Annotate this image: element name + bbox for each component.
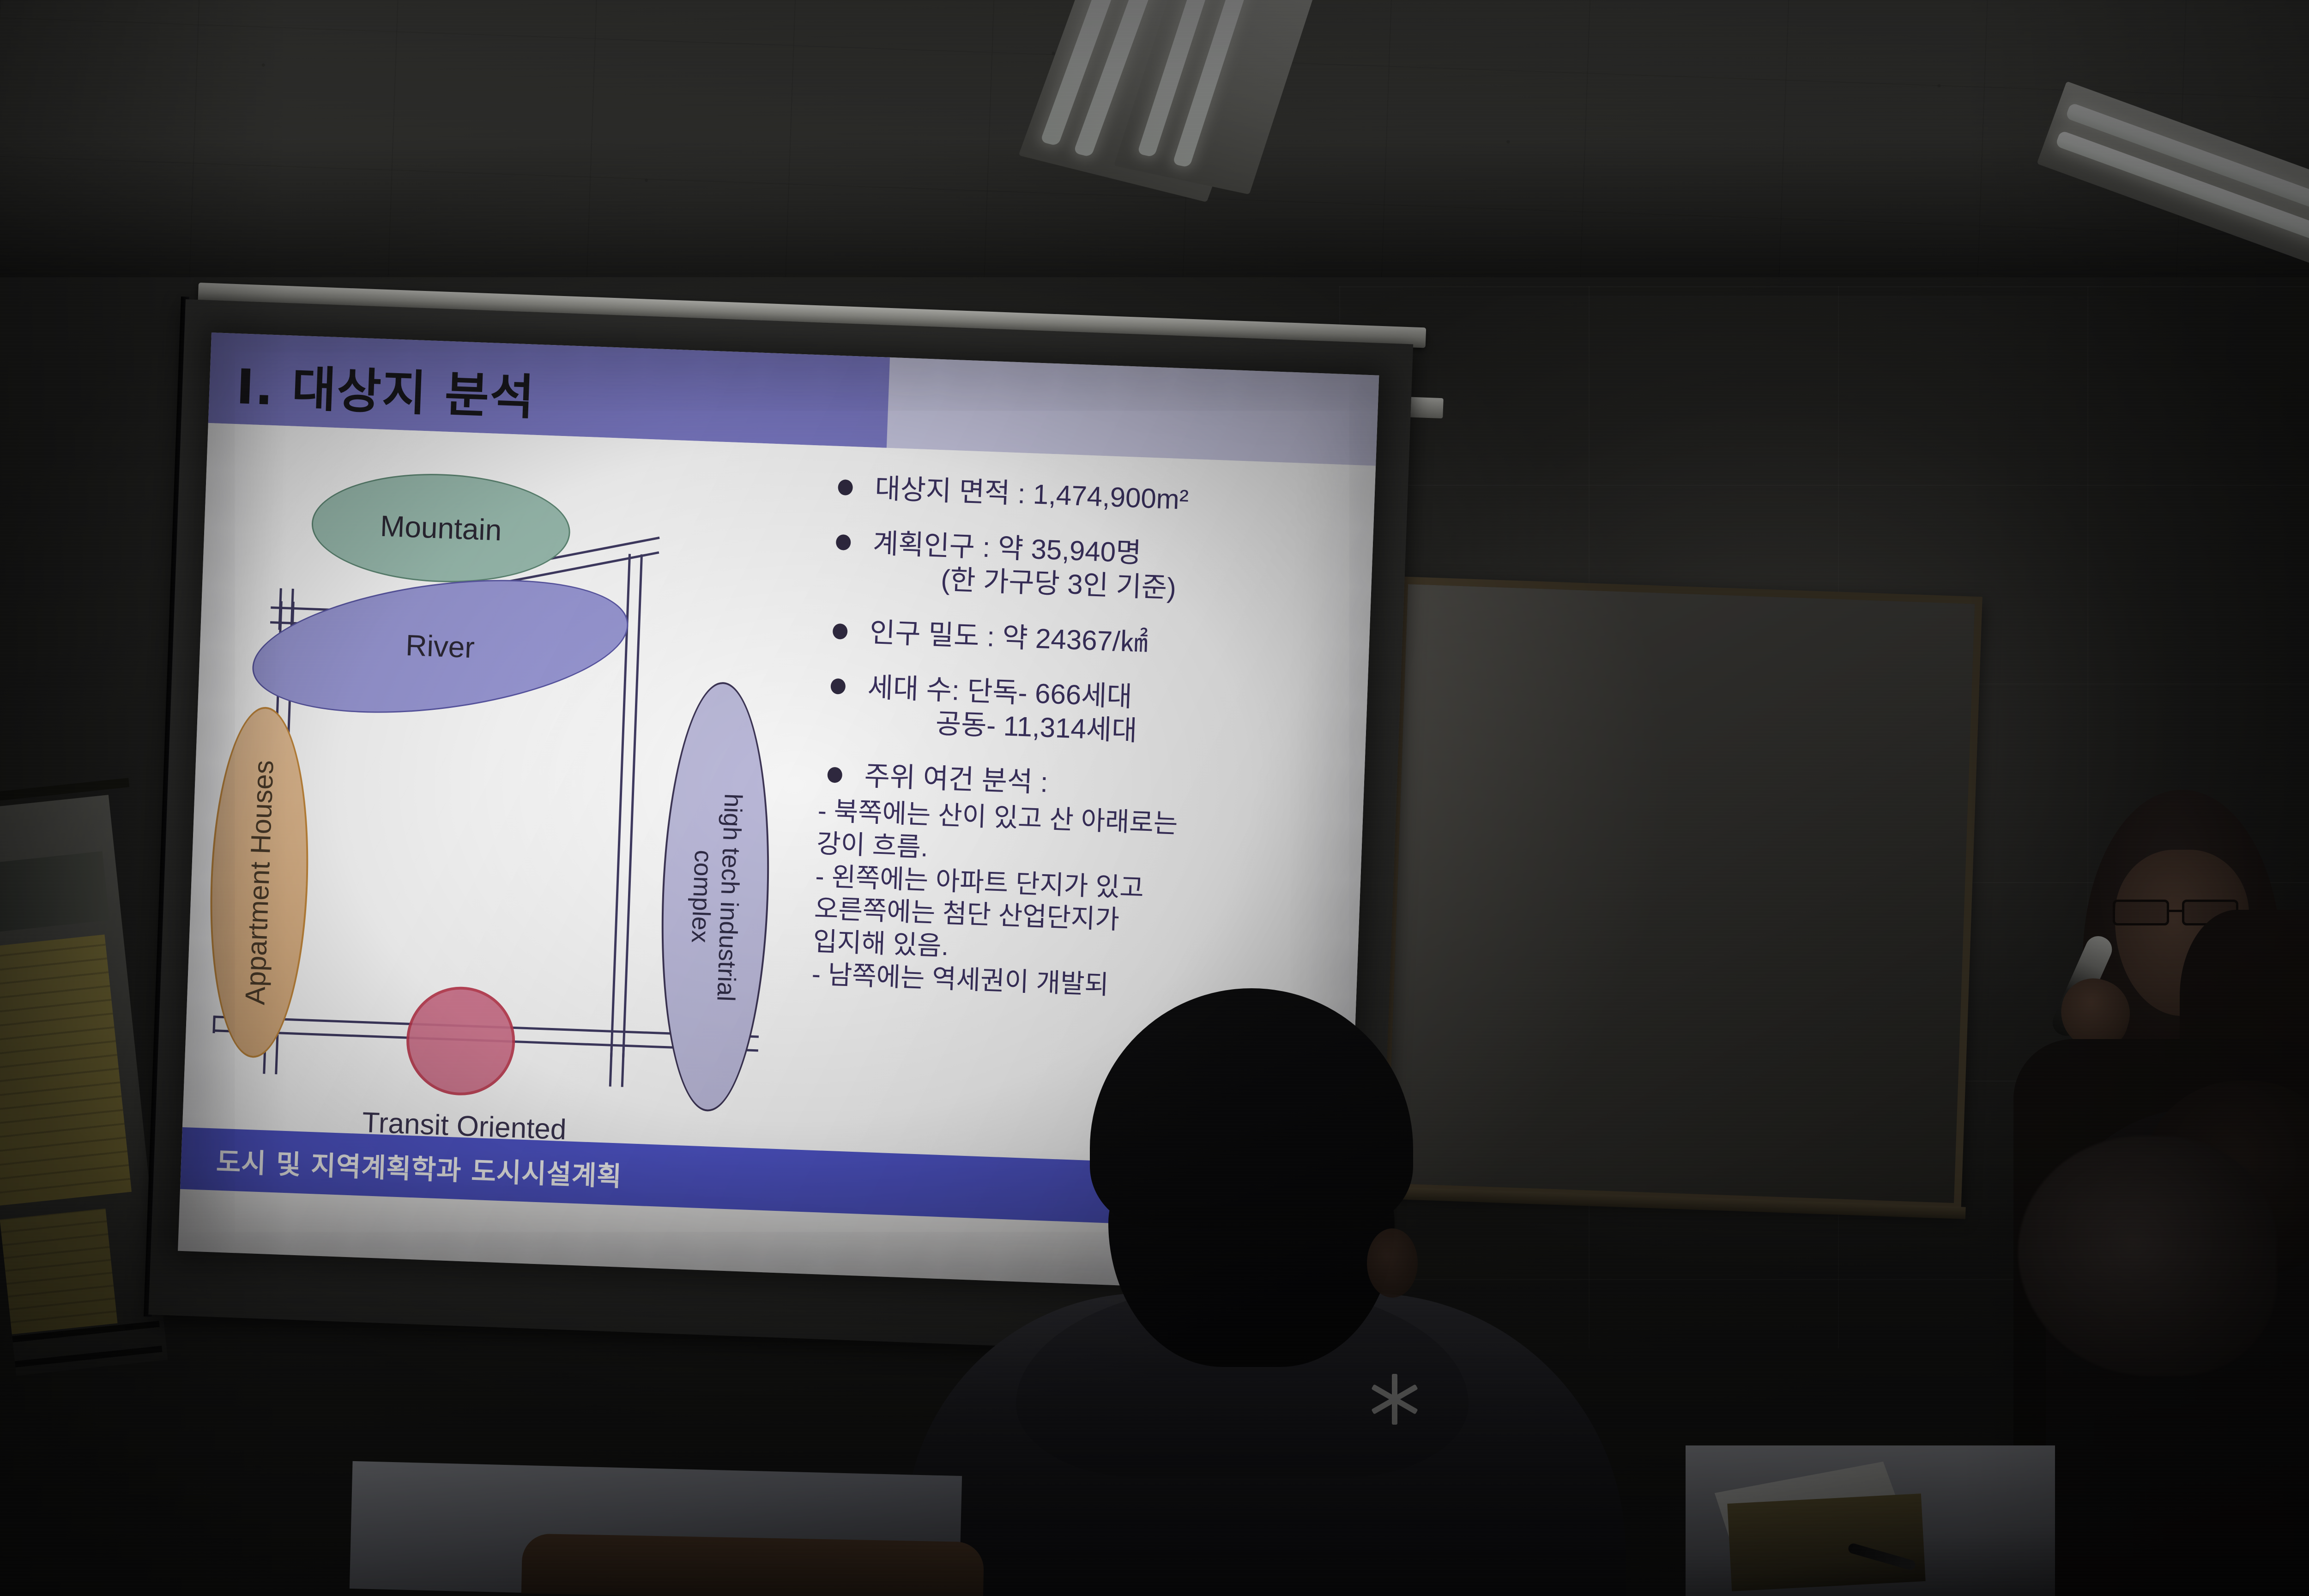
shape-transit-oriented-node — [405, 985, 517, 1097]
bullet-line-1: 대상지 면적 : 1,474,900m² — [874, 473, 1189, 515]
bullet-item: 대상지 면적 : 1,474,900m² — [824, 470, 1375, 524]
road-stub-left-2 — [275, 1034, 278, 1074]
bullet-line-1: 주위 여건 분석 : — [864, 761, 1049, 798]
shape-high-tech-industrial-complex-label: high tech industrialcomplex — [683, 792, 747, 1002]
bullet-item: 세대 수: 단독- 666세대 공동- 11,314세대 — [816, 668, 1368, 756]
shape-river-label: River — [405, 628, 475, 665]
bullet-line-2: (한 가구당 3인 기준) — [871, 560, 1372, 612]
bullet-item: 인구 밀도 : 약 24367/㎢ — [819, 613, 1370, 667]
poster-header-block — [0, 851, 109, 934]
shape-apartment-houses-label: Appartment Houses — [239, 759, 279, 1005]
bullet-sub-list: - 북쪽에는 산이 있고 산 아래로는 강이 흐름. - 왼쪽에는 아파트 단지… — [811, 795, 1363, 1010]
book-on-desk — [1727, 1493, 1925, 1591]
road-stub-right — [609, 1047, 613, 1087]
slide-footer-text: 도시 및 지역계획학과 도시시설계획 — [216, 1140, 623, 1194]
lecture-room-photo: Ⅰ. 대상지 분석 — [0, 0, 2309, 1596]
bullet-line-1: 인구 밀도 : 약 24367/㎢ — [869, 617, 1148, 658]
attendee-ear — [1367, 1228, 1418, 1298]
bullet-item: 계획인구 : 약 35,940명 (한 가구당 3인 기준) — [821, 525, 1373, 612]
poster-table-grid — [0, 935, 132, 1206]
site-analysis-diagram: Mountain River Appartment Houses high te… — [180, 423, 817, 1211]
shape-high-tech-industrial-complex: high tech industrialcomplex — [654, 680, 776, 1113]
attendee-beanie — [1090, 988, 1413, 1228]
attendee-right-side — [2046, 1108, 2309, 1596]
attendee-right-fur-hood — [2018, 1136, 2277, 1376]
bullet-line-2: 공동- 11,314세대 — [866, 704, 1366, 756]
shape-apartment-houses: Appartment Houses — [205, 705, 314, 1059]
snowflake-logo-icon — [1369, 1374, 1420, 1425]
road-stub-right-2 — [621, 1047, 625, 1087]
shape-mountain-label: Mountain — [380, 509, 502, 548]
shape-river: River — [244, 560, 636, 732]
chair-back — [521, 1533, 984, 1596]
shape-mountain: Mountain — [310, 469, 572, 586]
